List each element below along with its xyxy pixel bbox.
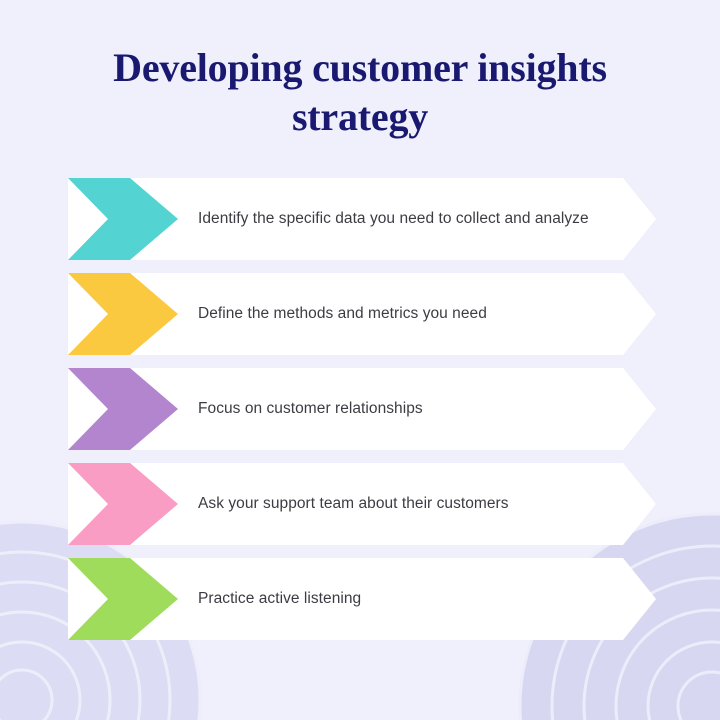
chevron-shape-5: [68, 558, 178, 640]
chevron-arrow-icon: [68, 463, 178, 545]
chevron-arrow-icon: [68, 178, 178, 260]
step-text: Focus on customer relationships: [198, 368, 618, 450]
step-row[interactable]: Identify the specific data you need to c…: [0, 178, 720, 273]
chevron-arrow-icon: [68, 558, 178, 640]
chevron-shape-2: [68, 273, 178, 355]
infographic-canvas: Developing customer insights strategy Id…: [0, 0, 720, 720]
step-row[interactable]: Practice active listening: [0, 558, 720, 653]
step-row[interactable]: Define the methods and metrics you need: [0, 273, 720, 368]
step-text: Ask your support team about their custom…: [198, 463, 618, 545]
chevron-shape-3: [68, 368, 178, 450]
page-title: Developing customer insights strategy: [0, 44, 720, 142]
step-row[interactable]: Ask your support team about their custom…: [0, 463, 720, 558]
page-title-container: Developing customer insights strategy: [0, 44, 720, 142]
step-row[interactable]: Focus on customer relationships: [0, 368, 720, 463]
step-text: Identify the specific data you need to c…: [198, 178, 618, 260]
chevron-arrow-icon: [68, 368, 178, 450]
step-list: Identify the specific data you need to c…: [0, 178, 720, 653]
step-text: Practice active listening: [198, 558, 618, 640]
chevron-arrow-icon: [68, 273, 178, 355]
chevron-shape-1: [68, 178, 178, 260]
step-text: Define the methods and metrics you need: [198, 273, 618, 355]
chevron-shape-4: [68, 463, 178, 545]
